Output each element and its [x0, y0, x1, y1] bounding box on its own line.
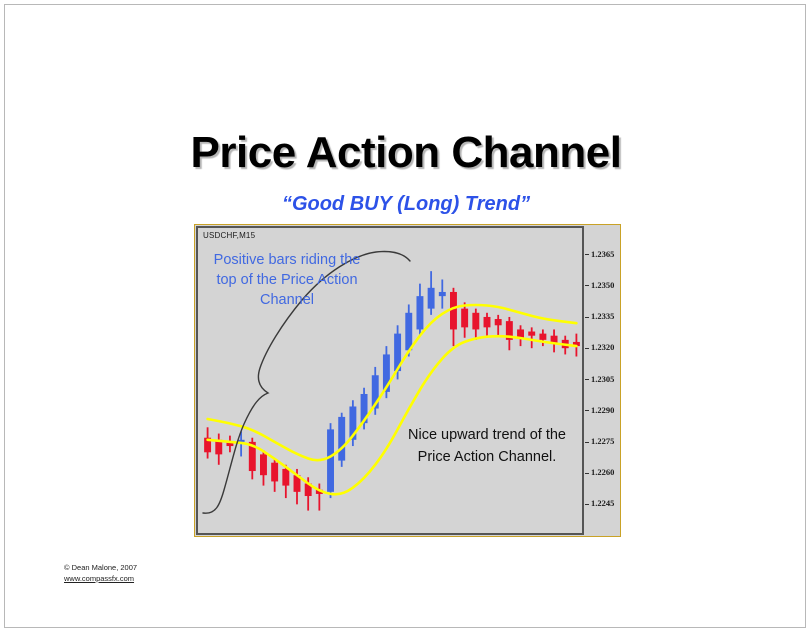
slide-subtitle: “Good BUY (Long) Trend” [0, 193, 812, 216]
candle-body [484, 317, 491, 327]
annotation-blue-note: Positive bars riding the top of the Pric… [212, 250, 362, 310]
candle-body [405, 313, 412, 350]
candle-body [450, 292, 457, 329]
candle-body [271, 463, 278, 482]
axis-tick-label: 1.2335 [585, 311, 614, 321]
page-title: Price Action Channel [0, 128, 812, 178]
axis-tick-label: 1.2290 [585, 405, 614, 415]
candle-body [428, 288, 435, 309]
candle-body [282, 469, 289, 486]
axis-tick-label: 1.2320 [585, 342, 614, 352]
chart-plot-area: USDCHF,M15 Positive bars riding the top … [196, 226, 584, 535]
annotation-black-note: Nice upward trend of the Price Action Ch… [394, 424, 580, 468]
price-action-chart-image: USDCHF,M15 Positive bars riding the top … [194, 224, 621, 537]
candle-body [528, 332, 535, 336]
candle-body [472, 313, 479, 330]
candle-body [338, 417, 345, 461]
axis-tick-label: 1.2275 [585, 436, 614, 446]
axis-tick-label: 1.2260 [585, 467, 614, 477]
axis-tick-label: 1.2305 [585, 374, 614, 384]
candle-body [260, 454, 267, 475]
candle-body [327, 429, 334, 491]
candle-body [539, 334, 546, 340]
candle-body [495, 319, 502, 325]
candle-body [416, 296, 423, 329]
candle-body [439, 292, 446, 296]
candle-body [461, 309, 468, 328]
footer-copyright: © Dean Malone, 2007 [64, 562, 137, 573]
axis-tick-label: 1.2350 [585, 280, 614, 290]
footer: © Dean Malone, 2007 www.compassfx.com [64, 562, 137, 584]
axis-tick-label: 1.2365 [585, 249, 614, 259]
footer-website-link[interactable]: www.compassfx.com [64, 574, 134, 583]
price-axis: 1.23651.23501.23351.23201.23051.22901.22… [585, 225, 621, 536]
axis-tick-label: 1.2245 [585, 498, 614, 508]
